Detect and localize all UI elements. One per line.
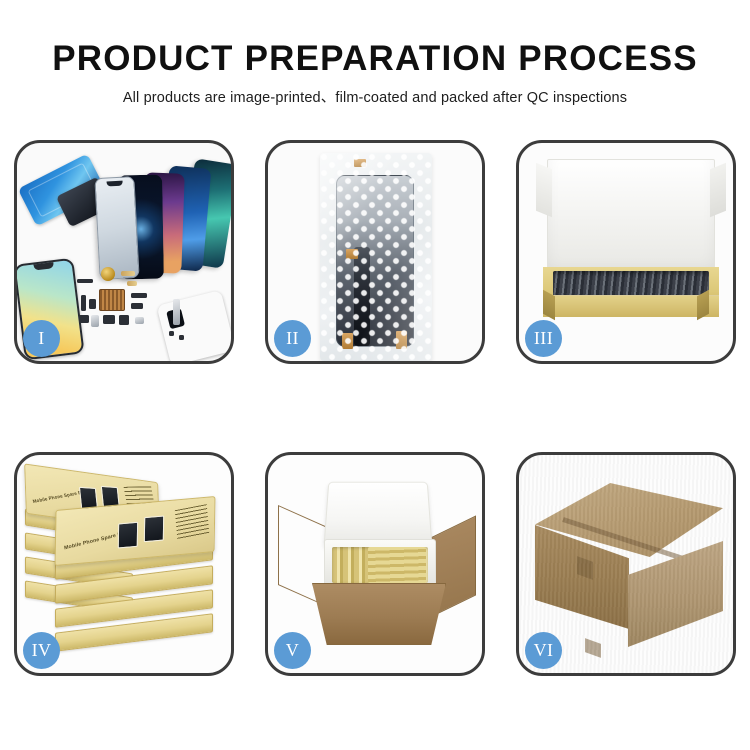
frame-bracket-b (89, 299, 96, 309)
step-badge-4: IV (23, 632, 60, 669)
process-step-panel-2: II (265, 140, 485, 364)
step-badge-3: III (525, 320, 562, 357)
sim-tray (91, 315, 99, 327)
process-step-panel-3: III (516, 140, 736, 364)
camera-module (119, 315, 129, 325)
process-step-panel-4: Mobile Phone Spare Parts Mobile Phone Sp… (14, 452, 234, 676)
lid-thumb-front-2 (144, 515, 164, 542)
process-step-panel-5: V (265, 452, 485, 676)
wrapped-contents-row (553, 271, 709, 297)
page-title: PRODUCT PREPARATION PROCESS (0, 38, 750, 80)
gold-speaker-part (101, 267, 115, 281)
yellow-boxes-row-2 (368, 547, 426, 583)
screw-b (179, 335, 184, 340)
carton-body (312, 583, 446, 645)
foam-lid (323, 482, 432, 548)
flex-strip-c (127, 281, 137, 286)
antenna-flex (131, 293, 147, 298)
step-badge-1: I (23, 320, 60, 357)
frame-bracket-a (81, 295, 86, 311)
screwdriver-tool (173, 299, 180, 325)
copper-contact-board (99, 289, 125, 311)
metal-shield (135, 317, 144, 324)
page-subtitle: All products are image-printed、film-coat… (0, 88, 750, 108)
product-preparation-infographic: PRODUCT PREPARATION PROCESS All products… (0, 0, 750, 750)
bubble-wrap-bag (320, 153, 432, 361)
flex-strip-b (121, 271, 135, 276)
flex-strip-a (77, 279, 93, 283)
vibrator-motor (103, 315, 115, 324)
small-parts-cluster (77, 265, 197, 357)
screw-a (169, 331, 174, 336)
white-box-lid (547, 159, 715, 277)
step-badge-5: V (274, 632, 311, 669)
carton-flap-tab-lower (585, 638, 601, 658)
button-part (79, 315, 89, 323)
step-badge-2: II (274, 320, 311, 357)
lid-thumb-front-1 (118, 522, 138, 549)
header: PRODUCT PREPARATION PROCESS All products… (0, 38, 750, 108)
step-badge-6: VI (525, 632, 562, 669)
process-step-grid: I II (14, 140, 736, 676)
kraft-box-front-wall (543, 295, 719, 317)
lid-specs-front (175, 504, 209, 540)
connector-chip (131, 303, 143, 309)
plastic-sheen (320, 153, 432, 361)
process-step-panel-1: I (14, 140, 234, 364)
process-step-panel-6: VI (516, 452, 736, 676)
